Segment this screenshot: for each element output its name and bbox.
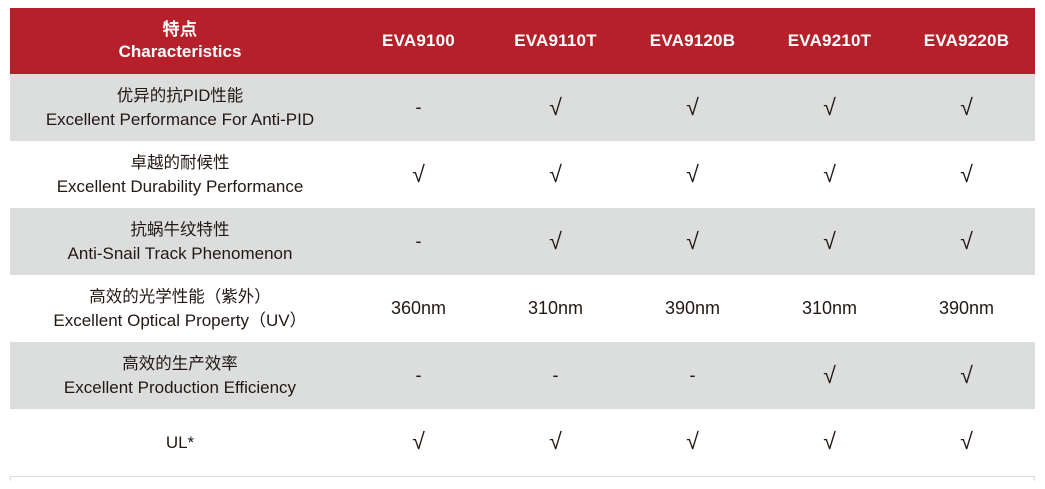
cell-production-eva9110t: -: [487, 342, 624, 409]
cell-optical-eva9210t: 310nm: [761, 275, 898, 342]
cell-production-eva9220b: √: [898, 342, 1035, 409]
value-mark: √: [549, 96, 562, 119]
cell-durability-eva9110t: √: [487, 141, 624, 208]
header-product-eva9100: EVA9100: [350, 8, 487, 74]
cell-anti-snail-eva9220b: √: [898, 208, 1035, 275]
value-mark: -: [416, 232, 422, 250]
table-header: 特点 Characteristics EVA9100 EVA9110T EVA9…: [10, 8, 1035, 74]
row-label-en: Excellent Production Efficiency: [10, 376, 350, 399]
cell-durability-eva9210t: √: [761, 141, 898, 208]
cell-durability-eva9100: √: [350, 141, 487, 208]
cell-anti-snail-eva9110t: √: [487, 208, 624, 275]
header-characteristics: 特点 Characteristics: [10, 8, 350, 74]
value-mark: -: [416, 98, 422, 116]
cell-production-eva9210t: √: [761, 342, 898, 409]
cell-anti-pid-eva9220b: √: [898, 74, 1035, 141]
header-product-eva9110t: EVA9110T: [487, 8, 624, 74]
row-label-cn: 卓越的耐候性: [10, 152, 350, 175]
value-mark: √: [960, 430, 973, 453]
header-characteristics-en: Characteristics: [10, 41, 350, 63]
row-label-cn: 高效的生产效率: [10, 353, 350, 376]
cell-anti-pid-eva9100: -: [350, 74, 487, 141]
value-mark: √: [960, 163, 973, 186]
value-mark: √: [823, 96, 836, 119]
cell-anti-pid-eva9120b: √: [624, 74, 761, 141]
table-row: 高效的光学性能（紫外） Excellent Optical Property（U…: [10, 275, 1035, 342]
value-mark: √: [686, 230, 699, 253]
cell-production-eva9100: -: [350, 342, 487, 409]
cell-anti-snail-eva9210t: √: [761, 208, 898, 275]
row-label-optical-property: 高效的光学性能（紫外） Excellent Optical Property（U…: [10, 275, 350, 342]
header-product-eva9120b: EVA9120B: [624, 8, 761, 74]
header-characteristics-cn: 特点: [10, 19, 350, 41]
cell-optical-eva9220b: 390nm: [898, 275, 1035, 342]
value-mark: -: [416, 366, 422, 384]
value-mark: -: [553, 366, 559, 384]
cell-optical-eva9100: 360nm: [350, 275, 487, 342]
row-label-en: Excellent Performance For Anti-PID: [10, 108, 350, 131]
cell-ul-eva9210t: √: [761, 409, 898, 476]
value-mark: √: [823, 430, 836, 453]
table-row: 高效的生产效率 Excellent Production Efficiency …: [10, 342, 1035, 409]
cell-optical-eva9120b: 390nm: [624, 275, 761, 342]
value-mark: √: [412, 430, 425, 453]
value-mark: √: [960, 364, 973, 387]
cell-optical-eva9110t: 310nm: [487, 275, 624, 342]
cell-ul-eva9100: √: [350, 409, 487, 476]
cell-ul-eva9110t: √: [487, 409, 624, 476]
row-label-cn: 优异的抗PID性能: [10, 85, 350, 108]
table-body: 优异的抗PID性能 Excellent Performance For Anti…: [10, 74, 1035, 476]
table-row: UL* √ √ √ √ √: [10, 409, 1035, 476]
cell-ul-eva9220b: √: [898, 409, 1035, 476]
header-product-eva9220b: EVA9220B: [898, 8, 1035, 74]
row-label-en: Excellent Durability Performance: [10, 175, 350, 198]
row-label-durability: 卓越的耐候性 Excellent Durability Performance: [10, 141, 350, 208]
row-label-en: UL*: [10, 431, 350, 454]
cell-anti-snail-eva9120b: √: [624, 208, 761, 275]
header-product-eva9210t: EVA9210T: [761, 8, 898, 74]
row-label-cn: 抗蜗牛纹特性: [10, 219, 350, 242]
value-mark: -: [690, 366, 696, 384]
value-mark: √: [823, 163, 836, 186]
row-label-anti-pid: 优异的抗PID性能 Excellent Performance For Anti…: [10, 74, 350, 141]
value-mark: √: [549, 230, 562, 253]
value-mark: √: [823, 230, 836, 253]
table-row: 优异的抗PID性能 Excellent Performance For Anti…: [10, 74, 1035, 141]
cell-durability-eva9120b: √: [624, 141, 761, 208]
value-mark: √: [549, 163, 562, 186]
value-mark: √: [960, 96, 973, 119]
product-characteristics-table: 特点 Characteristics EVA9100 EVA9110T EVA9…: [10, 8, 1035, 477]
cell-ul-eva9120b: √: [624, 409, 761, 476]
row-label-ul: UL*: [10, 409, 350, 476]
row-label-en: Anti-Snail Track Phenomenon: [10, 242, 350, 265]
value-mark: √: [549, 430, 562, 453]
cell-production-eva9120b: -: [624, 342, 761, 409]
cell-anti-pid-eva9210t: √: [761, 74, 898, 141]
table-row: 卓越的耐候性 Excellent Durability Performance …: [10, 141, 1035, 208]
table-row: 抗蜗牛纹特性 Anti-Snail Track Phenomenon - √ √…: [10, 208, 1035, 275]
cell-durability-eva9220b: √: [898, 141, 1035, 208]
row-label-production-efficiency: 高效的生产效率 Excellent Production Efficiency: [10, 342, 350, 409]
cell-anti-snail-eva9100: -: [350, 208, 487, 275]
header-row: 特点 Characteristics EVA9100 EVA9110T EVA9…: [10, 8, 1035, 74]
value-mark: √: [960, 230, 973, 253]
value-mark: √: [823, 364, 836, 387]
value-mark: √: [686, 163, 699, 186]
row-label-en: Excellent Optical Property（UV）: [10, 309, 350, 332]
value-mark: √: [686, 430, 699, 453]
value-mark: √: [412, 163, 425, 186]
row-label-cn: 高效的光学性能（紫外）: [10, 286, 350, 309]
value-mark: √: [686, 96, 699, 119]
row-label-anti-snail-track: 抗蜗牛纹特性 Anti-Snail Track Phenomenon: [10, 208, 350, 275]
cell-anti-pid-eva9110t: √: [487, 74, 624, 141]
